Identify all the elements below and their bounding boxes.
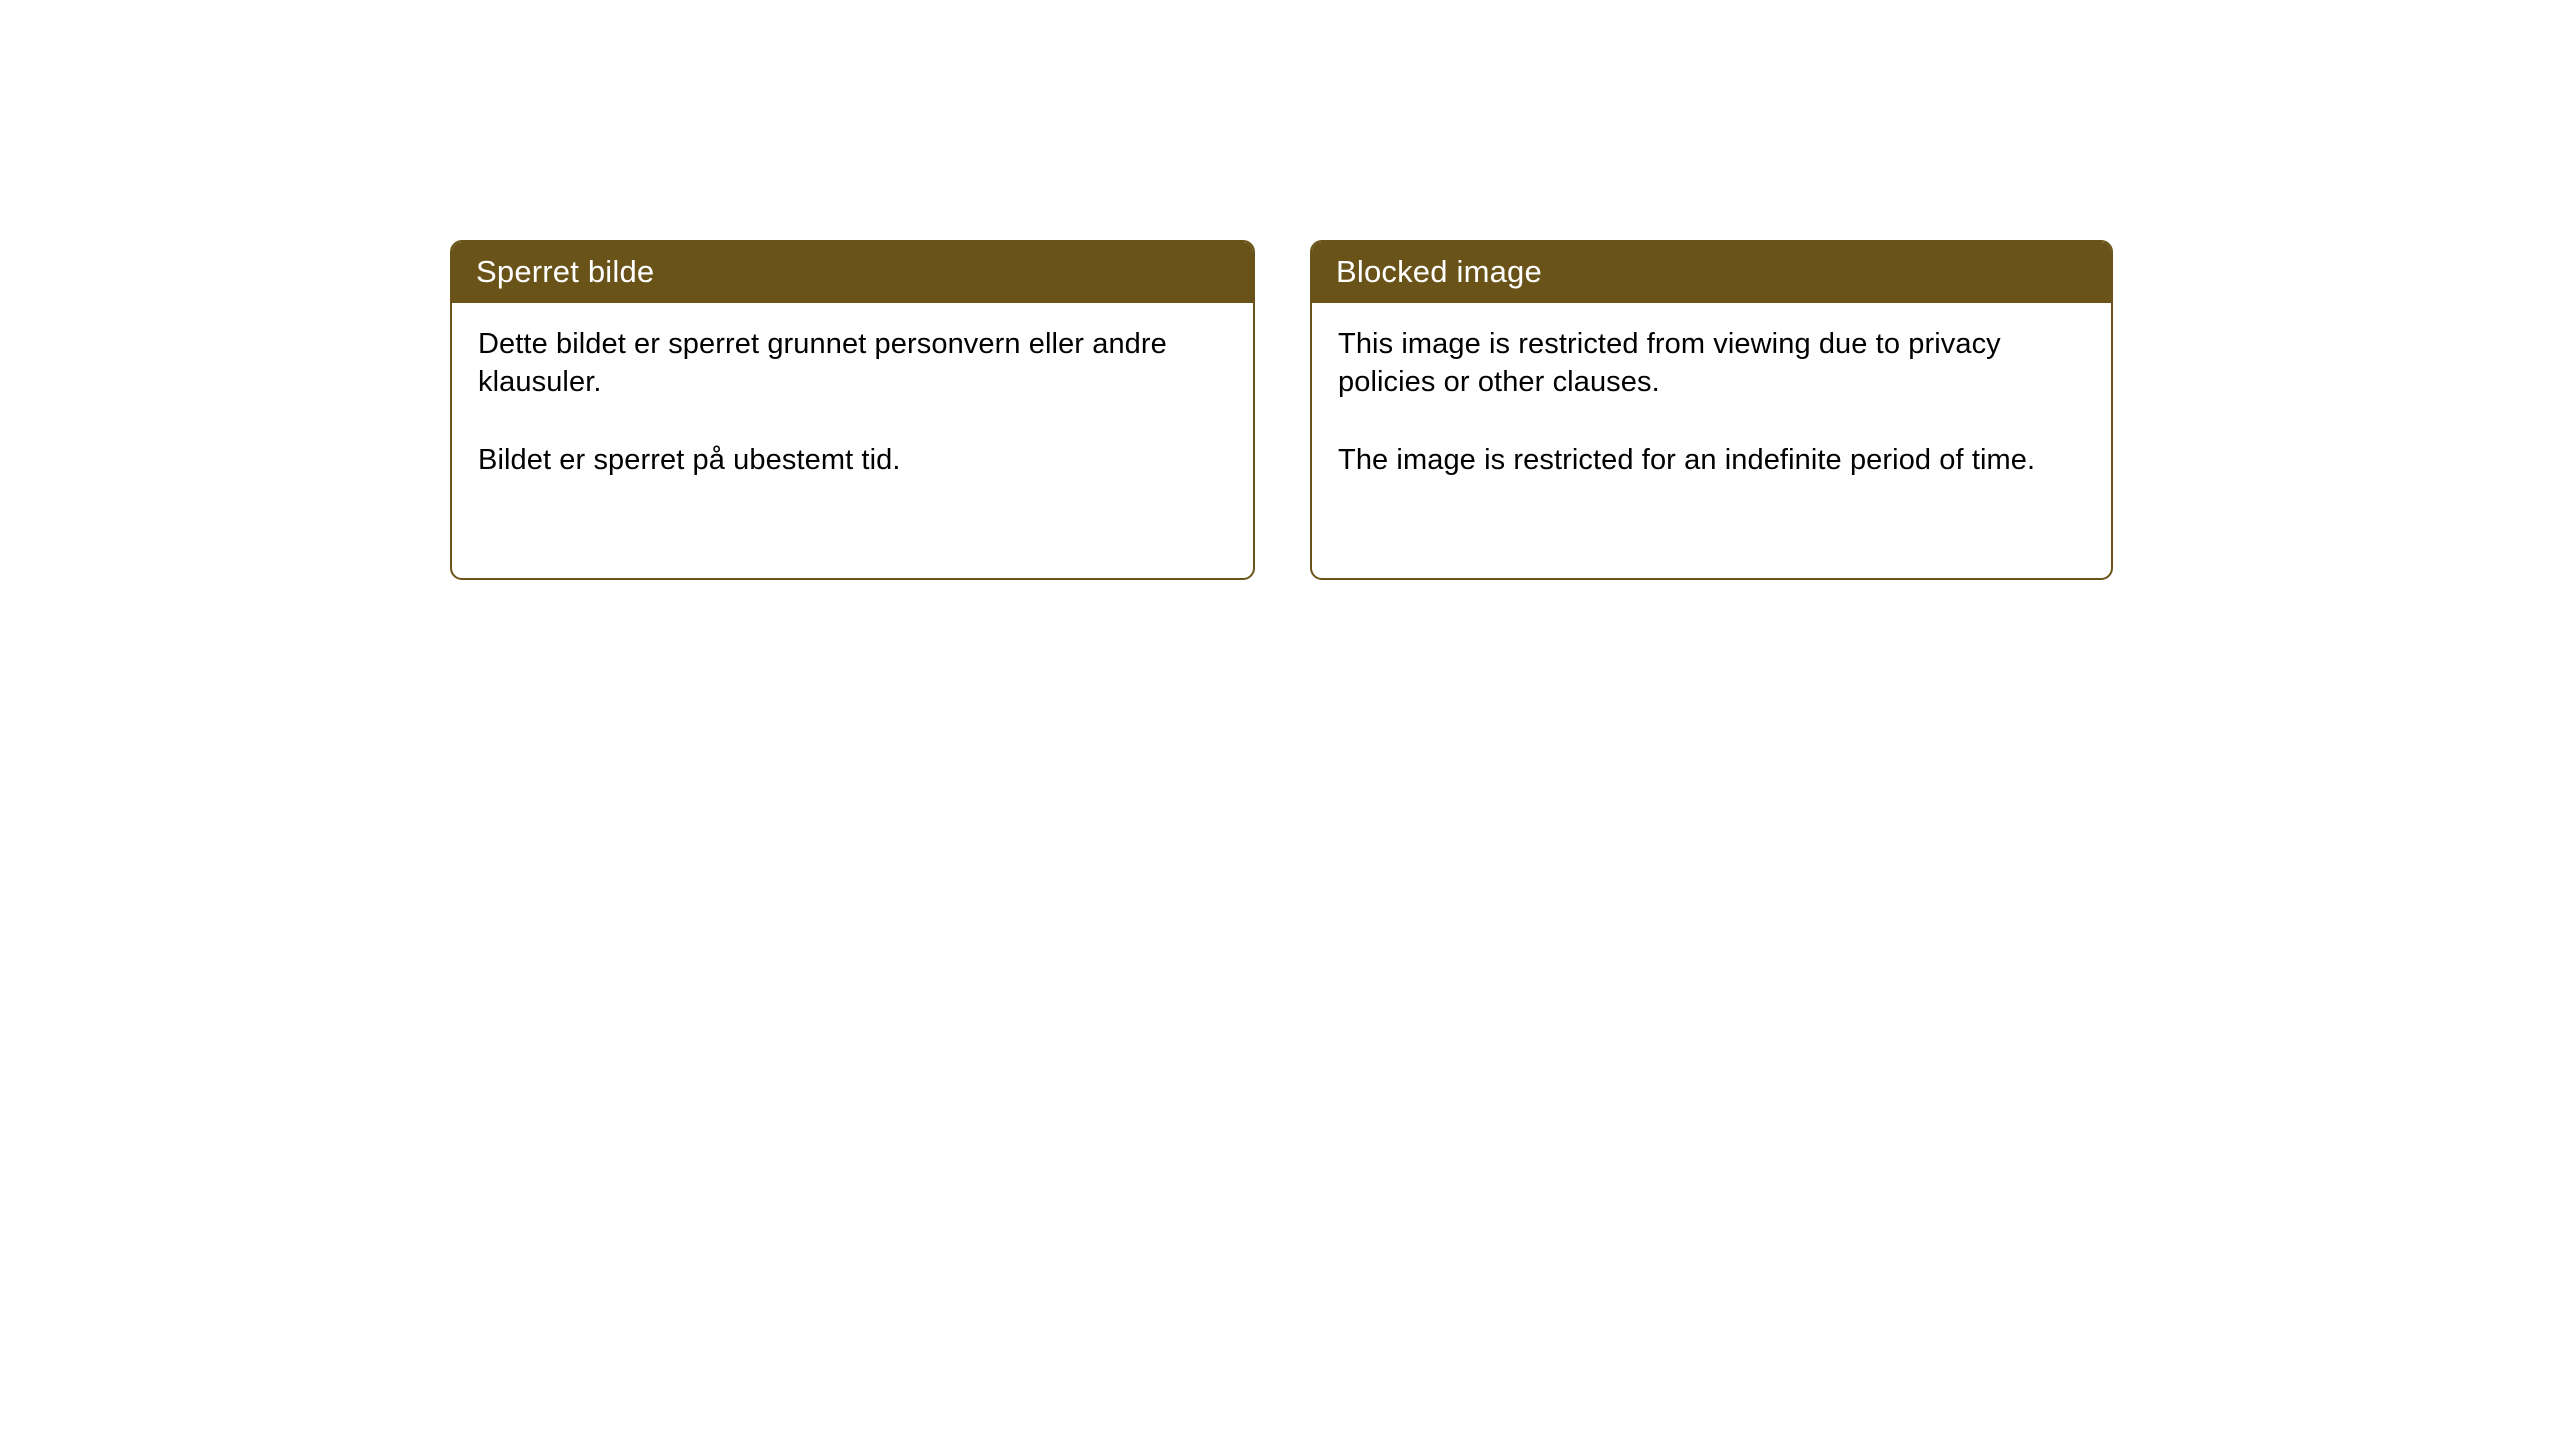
notice-title-en: Blocked image: [1336, 256, 1542, 287]
blocked-image-notice-card-en: Blocked image This image is restricted f…: [1310, 240, 2113, 580]
page-root: Sperret bilde Dette bildet er sperret gr…: [0, 0, 2560, 1440]
blocked-image-notice-card-no: Sperret bilde Dette bildet er sperret gr…: [450, 240, 1255, 580]
notice-paragraph-no-2: Bildet er sperret på ubestemt tid.: [478, 441, 1227, 479]
notice-paragraph-en-2: The image is restricted for an indefinit…: [1338, 441, 2085, 479]
notice-title-no: Sperret bilde: [476, 256, 654, 287]
notice-paragraph-en-1: This image is restricted from viewing du…: [1338, 325, 2085, 401]
notice-body-en: This image is restricted from viewing du…: [1312, 303, 2111, 578]
notice-header-en: Blocked image: [1310, 240, 2113, 303]
notice-paragraph-no-1: Dette bildet er sperret grunnet personve…: [478, 325, 1227, 401]
notice-header-no: Sperret bilde: [450, 240, 1255, 303]
notice-body-no: Dette bildet er sperret grunnet personve…: [452, 303, 1253, 578]
